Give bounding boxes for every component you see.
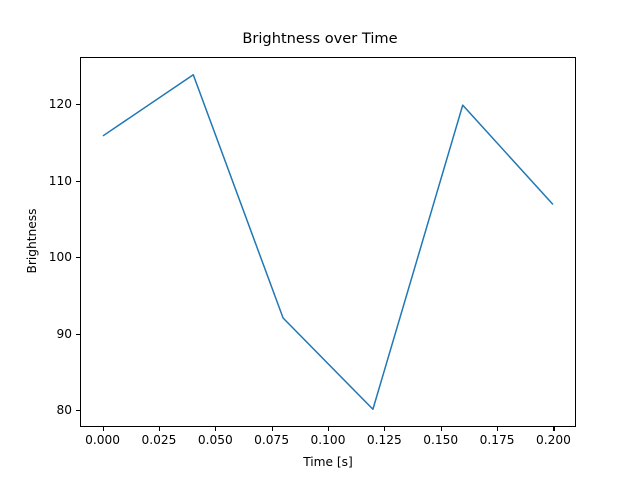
x-tick-label: 0.100: [311, 433, 346, 447]
y-tick-mark: [76, 334, 80, 335]
y-tick-label: 120: [49, 97, 72, 111]
x-tick-label: 0.025: [141, 433, 176, 447]
x-tick-mark: [159, 427, 160, 431]
y-tick-label: 90: [56, 327, 72, 341]
y-tick-label: 80: [56, 403, 72, 417]
y-tick-mark: [76, 181, 80, 182]
y-tick-label: 100: [49, 250, 72, 264]
x-tick-mark: [328, 427, 329, 431]
x-axis-label: Time [s]: [80, 455, 576, 469]
line-series-brightness: [103, 75, 552, 410]
plot-axes-area: [80, 57, 576, 427]
x-tick-label: 0.000: [85, 433, 120, 447]
y-tick-mark: [76, 257, 80, 258]
x-tick-mark: [497, 427, 498, 431]
x-tick-label: 0.075: [254, 433, 289, 447]
x-tick-mark: [384, 427, 385, 431]
figure-canvas: Brightness over Time 8090100110120 0.000…: [0, 0, 640, 480]
y-tick-label: 110: [49, 174, 72, 188]
x-tick-label: 0.150: [423, 433, 458, 447]
line-series-svg: [81, 58, 575, 426]
y-axis-label: Brightness: [25, 181, 39, 301]
y-tick-mark: [76, 410, 80, 411]
x-tick-label: 0.175: [480, 433, 515, 447]
chart-title: Brightness over Time: [0, 30, 640, 47]
x-tick-mark: [553, 427, 554, 431]
x-tick-mark: [215, 427, 216, 431]
x-axis-tick-labels: 0.0000.0250.0500.0750.1000.1250.1500.175…: [0, 427, 640, 451]
y-tick-mark: [76, 104, 80, 105]
x-tick-mark: [272, 427, 273, 431]
x-tick-label: 0.200: [536, 433, 571, 447]
x-tick-mark: [441, 427, 442, 431]
x-tick-mark: [103, 427, 104, 431]
x-tick-label: 0.125: [367, 433, 402, 447]
x-tick-label: 0.050: [198, 433, 233, 447]
